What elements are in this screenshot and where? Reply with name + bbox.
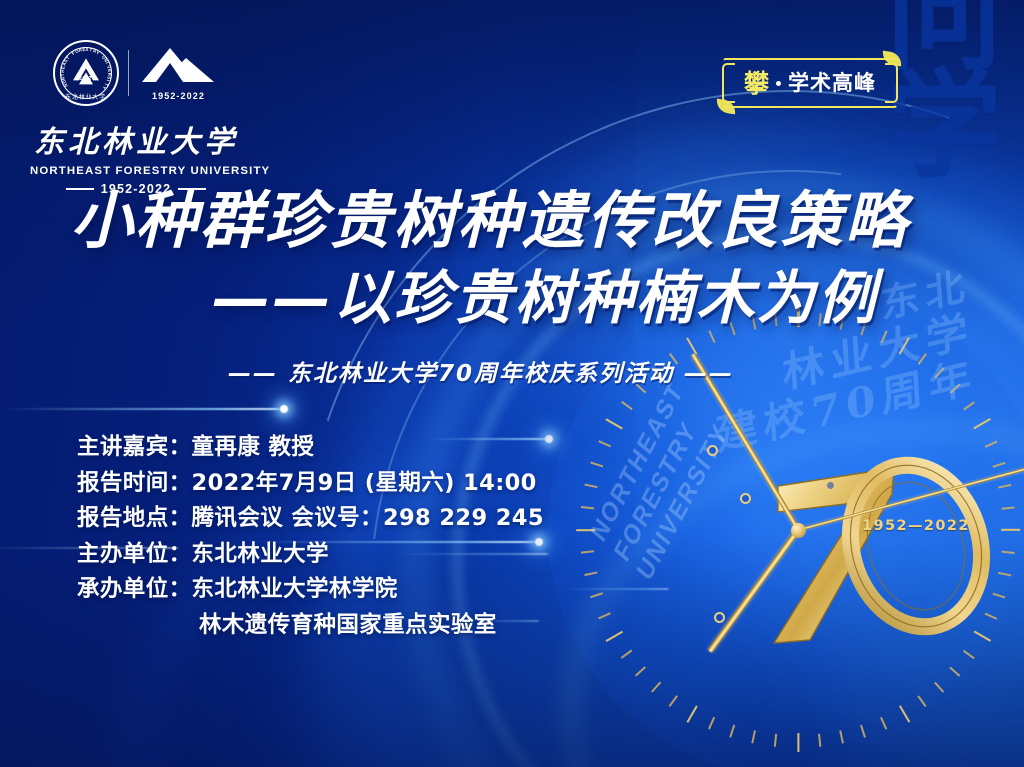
- title-line-2: ——以珍贵树种楠木为例: [0, 265, 980, 332]
- event-detail-value: 2022年7月9日 (星期六) 14:00: [192, 470, 537, 496]
- clock-tick: [998, 484, 1011, 488]
- event-detail-value: 林木遗传育种国家重点实验室: [199, 612, 497, 638]
- university-name-english: NORTHEAST FORESTRY UNIVERSITY: [30, 165, 242, 177]
- anniversary-mountain-logo: 1952-2022: [138, 46, 220, 101]
- clock-center-hub: [791, 523, 806, 538]
- clock-tick: [974, 418, 992, 430]
- ribbon-text: 学术高峰: [788, 73, 876, 94]
- ribbon-pan-character: 攀: [744, 71, 769, 96]
- mountain-icon: [140, 46, 218, 88]
- event-detail-row: 承办单位：东北林业大学林学院: [77, 572, 637, 608]
- crest-mountain-mark: [66, 56, 106, 88]
- academic-peak-ribbon: 攀 学术高峰: [722, 58, 898, 108]
- title-line-1: 小种群珍贵树种遗传改良策略: [0, 186, 980, 255]
- event-details-block: 主讲嘉宾：童再康 教授报告时间：2022年7月9日 (星期六) 14:00报告地…: [77, 430, 637, 643]
- clock-hand-pin-3: [825, 480, 836, 491]
- seventy-emblem-years: 1952—2022: [862, 518, 970, 534]
- clock-hand-pin-2: [740, 493, 751, 504]
- event-detail-label: 报告时间：: [77, 470, 192, 496]
- event-detail-row: 主讲嘉宾：童再康 教授: [77, 430, 637, 466]
- ribbon-dot-separator: [776, 81, 781, 86]
- event-detail-row: 报告时间：2022年7月9日 (星期六) 14:00: [77, 466, 637, 502]
- clock-hand-pin-1: [707, 445, 718, 456]
- university-logo-lockup: NORTHEAST FORESTRY UNIVERSITY 1952 东北林业大…: [30, 36, 242, 196]
- logo-row: NORTHEAST FORESTRY UNIVERSITY 1952 东北林业大…: [30, 36, 242, 110]
- ribbon-content: 攀 学术高峰: [722, 58, 898, 108]
- event-detail-row: 报告地点：腾讯会议 会议号：298 229 245: [77, 501, 637, 537]
- university-crest-icon: NORTHEAST FORESTRY UNIVERSITY 1952 东北林业大…: [53, 40, 119, 106]
- title-block: 小种群珍贵树种遗传改良策略 ——以珍贵树种楠木为例 —— 东北林业大学70周年校…: [0, 186, 980, 388]
- event-detail-label: 报告地点：: [77, 505, 192, 531]
- event-detail-label: 主讲嘉宾：: [77, 434, 192, 460]
- event-detail-value: 东北林业大学: [192, 541, 329, 567]
- clock-tick: [1002, 506, 1015, 509]
- poster-canvas: 东北 林业大学 建校70周年 NORTHEAST FORESTRY UNIVER…: [0, 0, 1024, 767]
- clock-tick: [993, 462, 1006, 468]
- university-name-chinese: 东北林业大学: [30, 117, 242, 161]
- event-detail-label: 主办单位：: [77, 541, 192, 567]
- event-detail-value: 东北林业大学林学院: [192, 576, 398, 602]
- clock-second-hand: [798, 467, 1024, 531]
- mountain-logo-years: 1952-2022: [152, 91, 205, 101]
- event-detail-row: 主办单位：东北林业大学: [77, 537, 637, 573]
- event-detail-label: 承办单位：: [77, 576, 192, 602]
- event-subtitle: —— 东北林业大学70周年校庆系列活动 ——: [0, 354, 980, 388]
- clock-tick: [985, 441, 998, 448]
- event-detail-row: 林木遗传育种国家重点实验室: [77, 608, 637, 644]
- event-detail-value: 腾讯会议 会议号：298 229 245: [192, 505, 544, 531]
- logo-divider: [128, 50, 129, 96]
- clock-tick: [1001, 529, 1020, 531]
- clock-tick: [963, 401, 974, 410]
- event-detail-value: 童再康 教授: [192, 434, 315, 460]
- crest-year: 1952: [80, 76, 92, 82]
- crest-chinese-name: 东北林业大学: [65, 92, 106, 101]
